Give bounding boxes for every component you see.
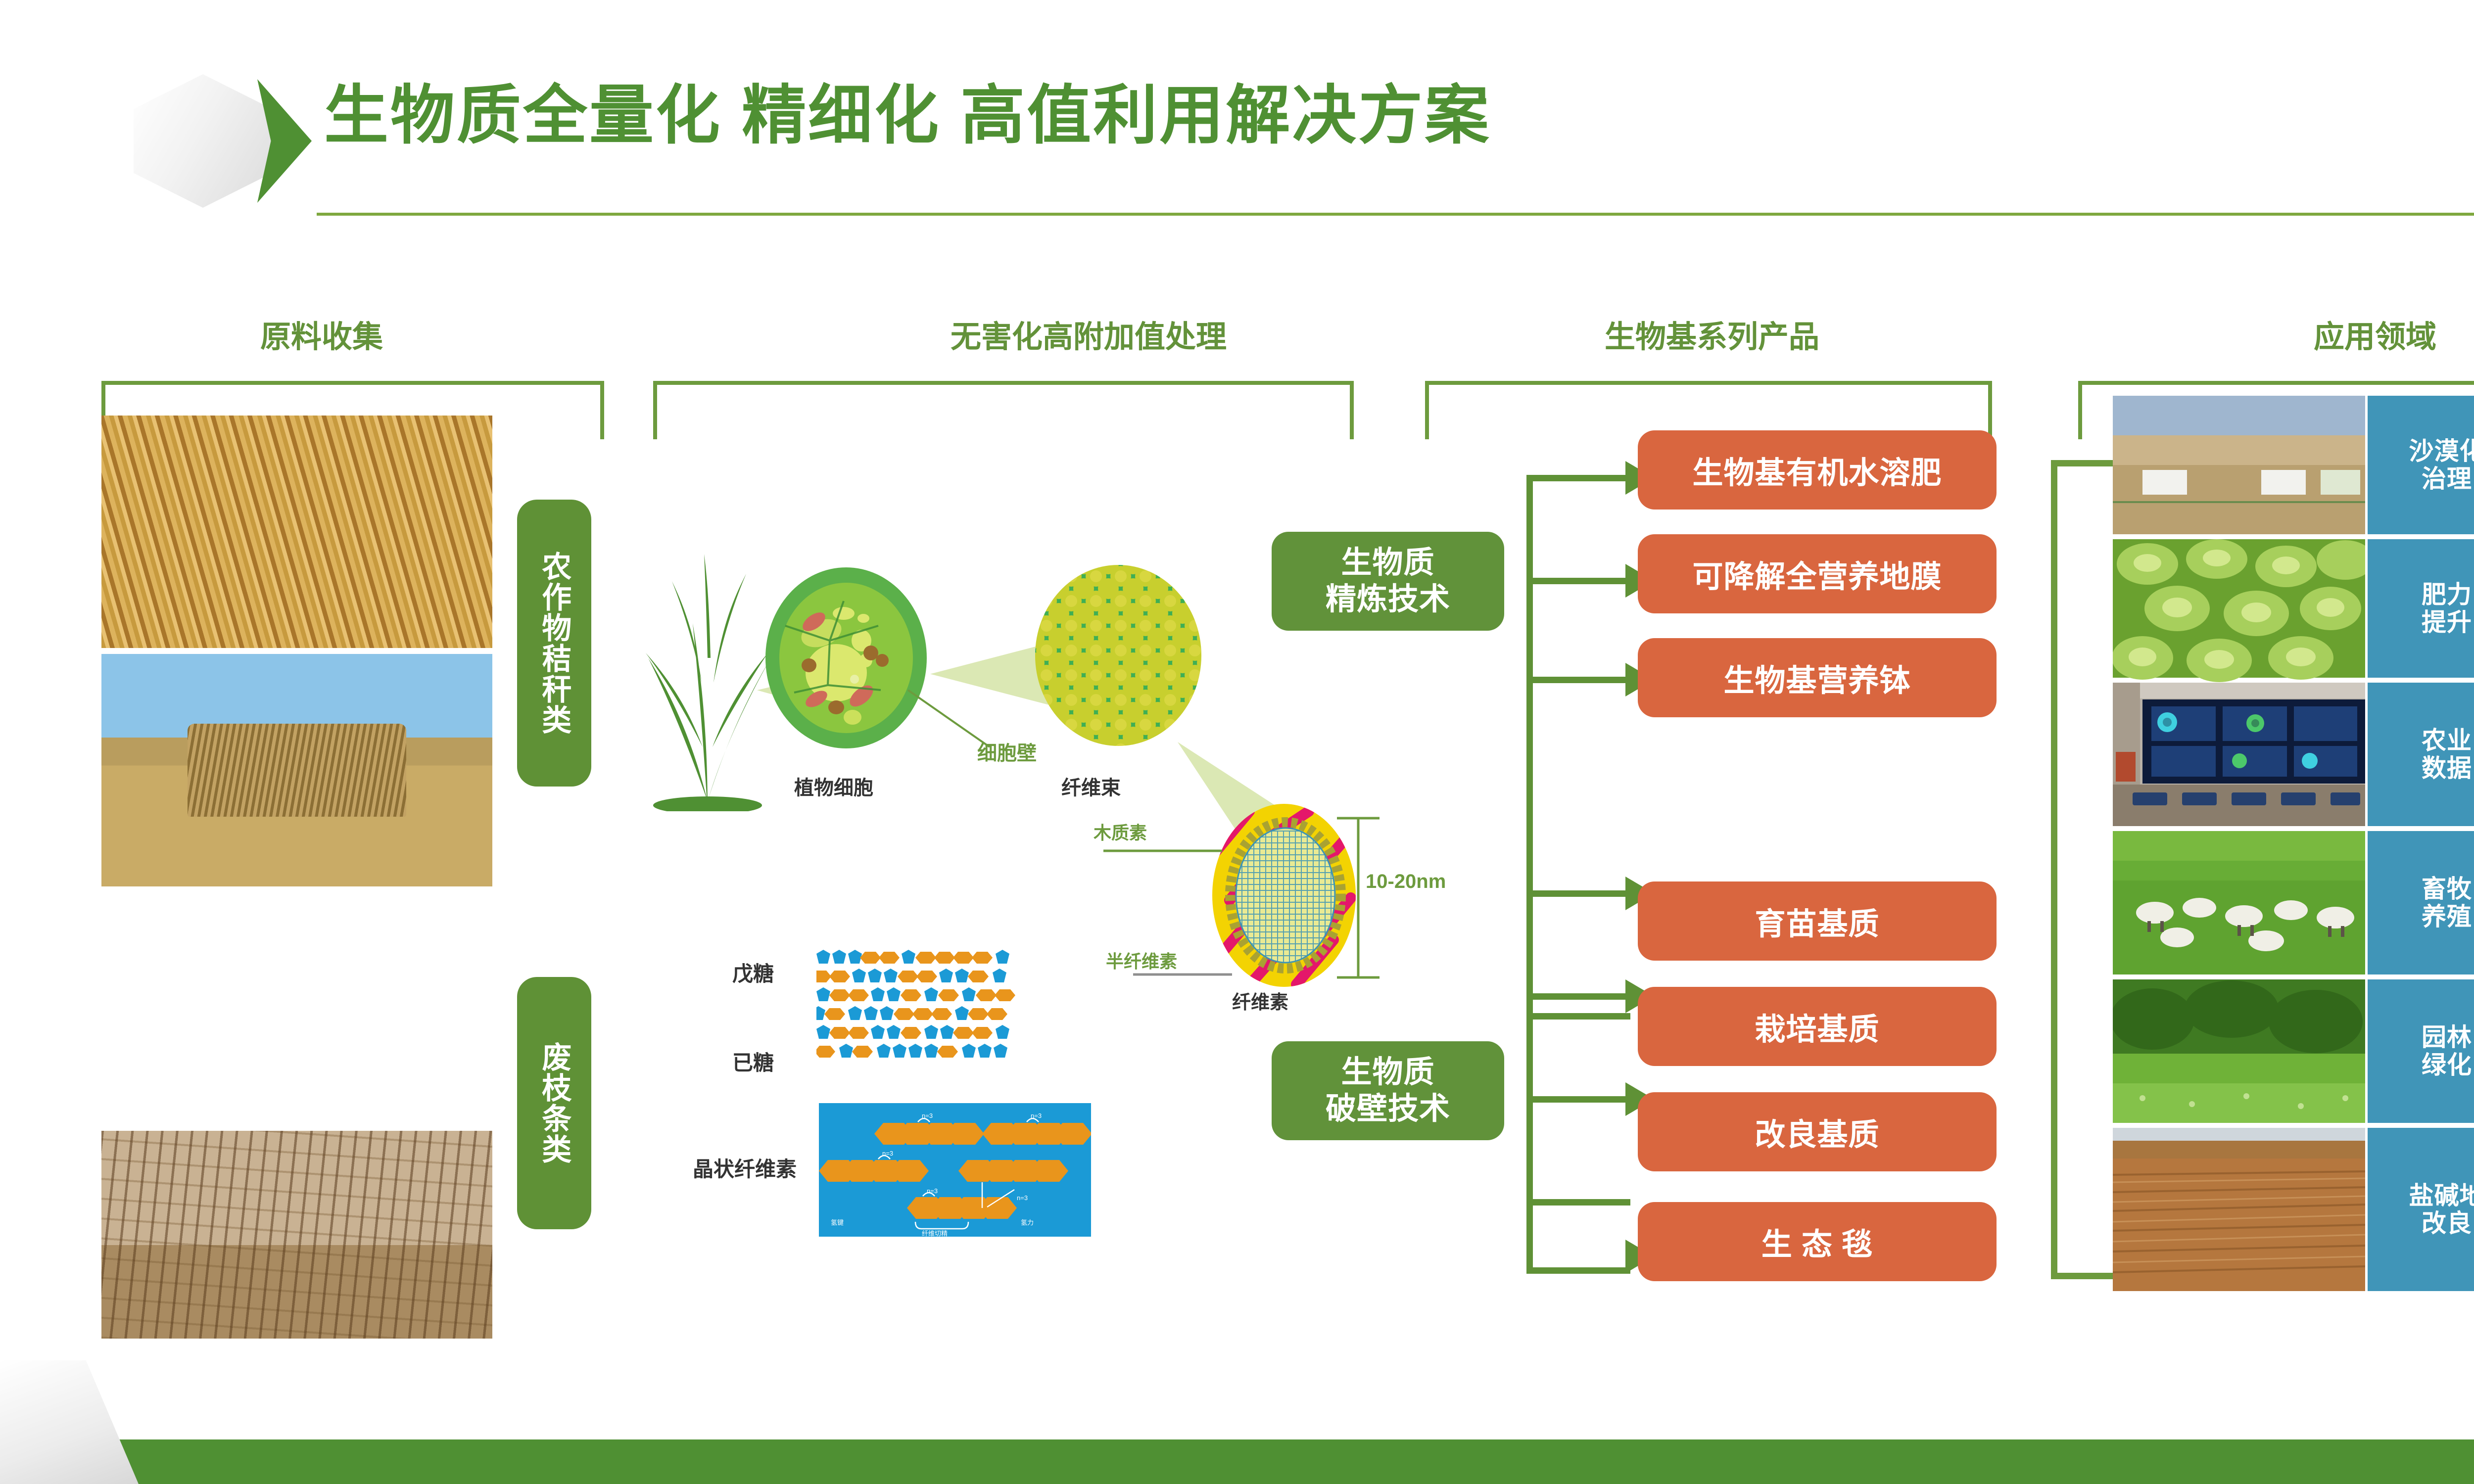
section-header-feedstock: 原料收集 (148, 312, 495, 356)
app-livestock-line1: 畜牧 (2422, 875, 2472, 903)
connector-bottom-row4 (1526, 1199, 1630, 1206)
svg-text:氢键: 氢键 (831, 1219, 844, 1226)
label-pentose: 戊糖 (732, 957, 774, 987)
product-box-ecological-blanket[interactable]: 生 态 毯 (1638, 1202, 1997, 1281)
tech-refining-line1: 生物质 (1326, 545, 1450, 581)
section-header-applications: 应用领域 (2152, 312, 2474, 356)
application-label-agri-data[interactable]: 农业 数据 (2368, 683, 2474, 826)
label-fiber-bundle: 纤维束 (1061, 772, 1121, 800)
crystalline-cellulose-diagram: n=3 n=3 n=3 n=3 n=3 氢键 纤维切精 氢力 (819, 1103, 1091, 1237)
grass-plant-icon (633, 534, 782, 811)
svg-text:n=3: n=3 (1017, 1194, 1028, 1202)
product-box-degradable-mulch-film[interactable]: 可降解全营养地膜 (1638, 534, 1997, 613)
connector-bottom-row2 (1526, 993, 1630, 1000)
fiber-bundle-illustration (1034, 564, 1202, 747)
label-lignin: 木质素 (1094, 819, 1147, 844)
app-saline-line2: 改良 (2409, 1209, 2474, 1237)
svg-text:n=3: n=3 (882, 1150, 893, 1157)
connector-top-row3 (1526, 1013, 1630, 1020)
label-cellulose: 纤维素 (1232, 987, 1288, 1014)
connector-bottom-vertical (1526, 890, 1533, 1271)
product-box-cultivation-substrate[interactable]: 栽培基质 (1638, 987, 1997, 1066)
label-cell-wall: 细胞壁 (977, 737, 1037, 766)
app-landscape-line1: 园林 (2422, 1023, 2472, 1051)
label-scale-10-20nm: 10-20nm (1366, 871, 1446, 893)
footer-bar (0, 1439, 2474, 1484)
connector-bottom-row1 (1526, 890, 1630, 897)
scale-dimension-line (1336, 811, 1380, 984)
tech-wall-line2: 破壁技术 (1326, 1091, 1450, 1127)
app-desert-line1: 沙漠化 (2409, 437, 2474, 465)
plant-cell-illustration (764, 566, 928, 749)
feedstock-pill-crop-straw: 农作物秸秆类 (517, 500, 591, 787)
application-label-desertification[interactable]: 沙漠化 治理 (2368, 396, 2474, 534)
connector-bottom-row3 (1526, 1096, 1630, 1103)
app-livestock-line2: 养殖 (2422, 903, 2472, 930)
connector-bottom-row5 (1526, 1267, 1630, 1274)
footer-wedge-decoration (0, 1360, 139, 1484)
photo-corn-straw (101, 416, 492, 648)
connector-top-row2 (1526, 578, 1630, 584)
label-hemicellulose: 半纤维素 (1106, 947, 1177, 973)
application-label-livestock[interactable]: 畜牧 养殖 (2368, 831, 2474, 974)
tech-wall-line1: 生物质 (1326, 1054, 1450, 1091)
tech-box-wall-breaking[interactable]: 生物质 破壁技术 (1272, 1041, 1504, 1140)
app-data-line1: 农业 (2422, 727, 2472, 754)
svg-text:n=3: n=3 (927, 1187, 938, 1195)
page-title: 生物质全量化 精细化 高值利用解决方案 (324, 83, 1491, 147)
photo-straw-bale (101, 654, 492, 886)
title-band: 生物质全量化 精细化 高值利用解决方案 (0, 0, 2474, 232)
section-header-processing: 无害化高附加值处理 (732, 312, 1445, 356)
product-box-nutrition-pot[interactable]: 生物基营养钵 (1638, 638, 1997, 717)
tech-refining-line2: 精炼技术 (1326, 581, 1450, 618)
section-header-products: 生物基系列产品 (1445, 312, 1979, 356)
svg-text:n=3: n=3 (922, 1112, 933, 1119)
application-label-fertility[interactable]: 肥力 提升 (2368, 539, 2474, 678)
label-hexose: 已糖 (732, 1046, 774, 1076)
app-fertility-line2: 提升 (2422, 608, 2472, 636)
feedstock-pill-waste-branch: 废枝条类 (517, 977, 591, 1229)
svg-text:n=3: n=3 (1031, 1112, 1042, 1119)
product-box-improvement-substrate[interactable]: 改良基质 (1638, 1092, 1997, 1171)
app-saline-line1: 盐碱地 (2409, 1182, 2474, 1209)
product-box-water-soluble-fertilizer[interactable]: 生物基有机水溶肥 (1638, 430, 1997, 510)
tech-box-refining[interactable]: 生物质 精炼技术 (1272, 532, 1504, 631)
hexagon-badge-icon (134, 74, 272, 208)
app-landscape-line2: 绿化 (2422, 1051, 2472, 1079)
connector-top-row1 (1526, 475, 1630, 481)
photo-pruned-branches (101, 892, 492, 1125)
connector-top-row3b (1526, 677, 1630, 683)
product-box-seedling-substrate[interactable]: 育苗基质 (1638, 881, 1997, 961)
photo-vineyard-branches (101, 1131, 492, 1339)
sugar-chain-diagram (816, 950, 1113, 1088)
label-crystalline-cellulose: 晶状纤维素 (693, 1153, 797, 1183)
application-label-saline-alkali[interactable]: 盐碱地 改良 (2368, 1128, 2474, 1291)
bracket-processing (653, 381, 1354, 439)
application-label-landscaping[interactable]: 园林 绿化 (2368, 979, 2474, 1123)
application-photo-stack (2113, 396, 2365, 1350)
svg-text:纤维切精: 纤维切精 (922, 1230, 948, 1237)
svg-text:氢力: 氢力 (1021, 1219, 1034, 1226)
label-plant-cell: 植物细胞 (794, 772, 873, 800)
app-data-line2: 数据 (2422, 754, 2472, 782)
title-divider (317, 213, 2474, 216)
app-fertility-line1: 肥力 (2422, 581, 2472, 608)
app-desert-line2: 治理 (2409, 465, 2474, 493)
